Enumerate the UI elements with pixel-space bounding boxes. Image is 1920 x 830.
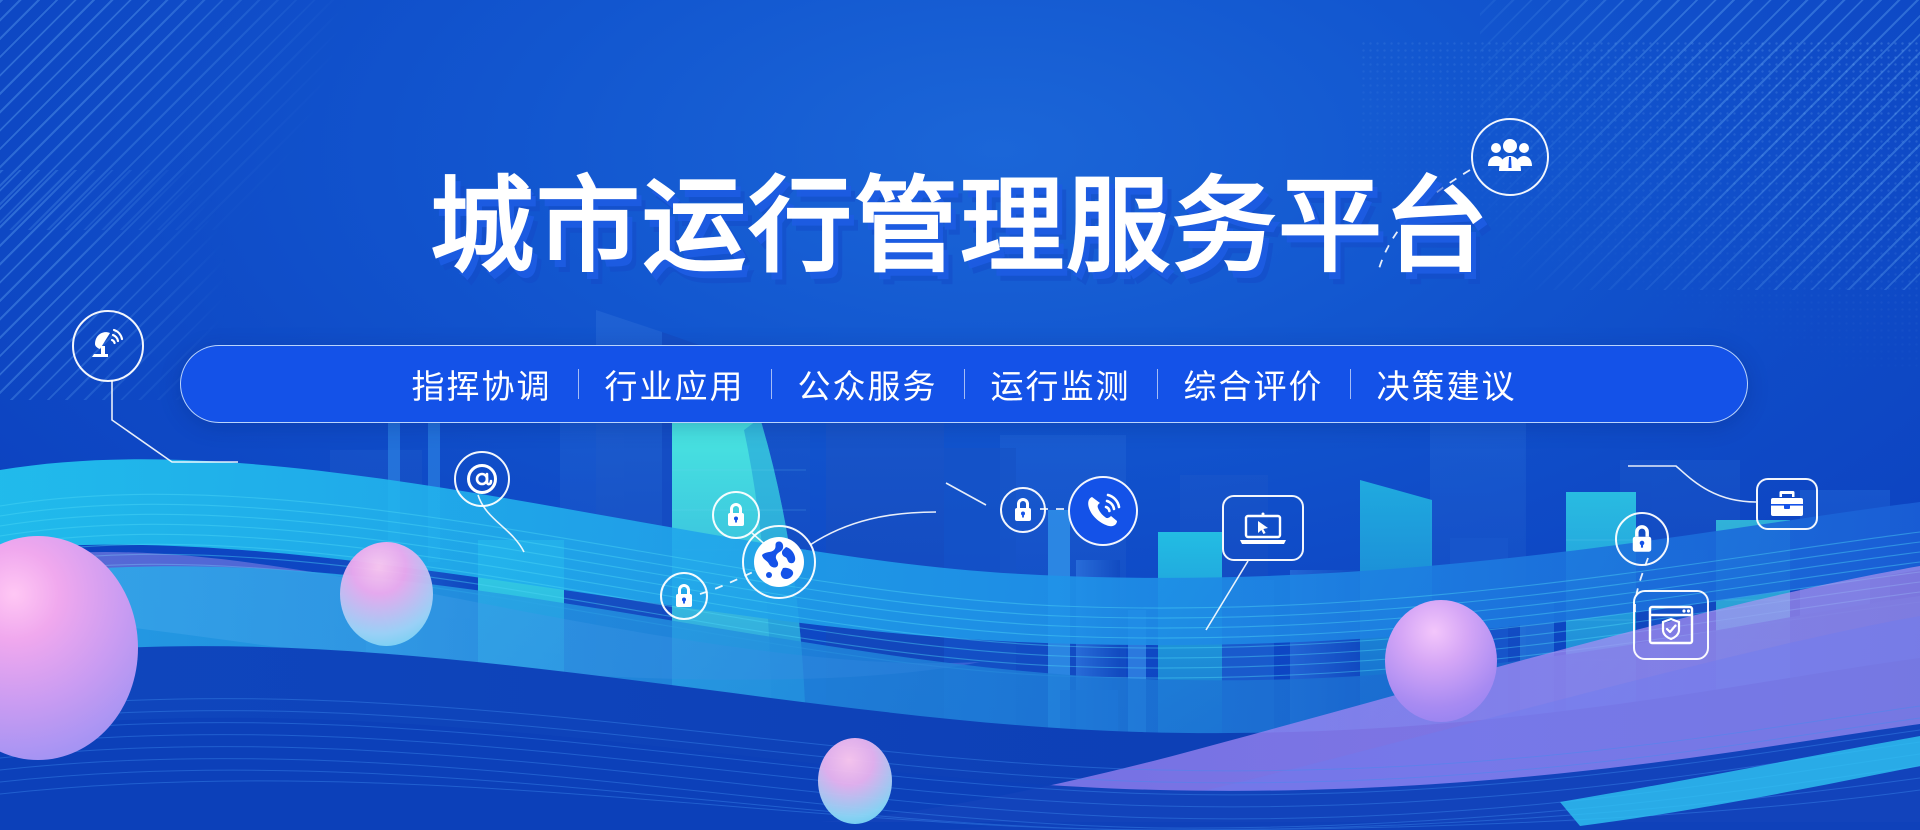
nav-item-3[interactable]: 运行监测 — [965, 360, 1157, 408]
nav-item-5[interactable]: 决策建议 — [1351, 360, 1543, 408]
city-operation-banner: 城市运行管理服务平台 指挥协调 行业应用 公众服务 运行监测 综合评价 决策建议 — [0, 0, 1920, 830]
briefcase-icon[interactable] — [1756, 478, 1818, 530]
nav-item-4[interactable]: 综合评价 — [1158, 360, 1350, 408]
globe-icon[interactable] — [742, 525, 816, 599]
nav-item-1[interactable]: 行业应用 — [579, 360, 771, 408]
satellite-dish-icon[interactable] — [72, 310, 144, 382]
phone-call-icon[interactable] — [1068, 476, 1138, 546]
browser-shield-icon[interactable] — [1633, 590, 1709, 660]
lock-icon[interactable] — [1000, 487, 1046, 533]
main-nav-pill: 指挥协调 行业应用 公众服务 运行监测 综合评价 决策建议 — [180, 345, 1748, 423]
nav-item-0[interactable]: 指挥协调 — [386, 360, 578, 408]
lock-icon[interactable] — [1615, 512, 1669, 566]
lock-icon[interactable] — [660, 572, 708, 620]
at-sign-icon[interactable] — [454, 451, 510, 507]
flowing-wave-ribbons — [0, 410, 1920, 830]
laptop-cursor-icon[interactable] — [1222, 495, 1304, 561]
nav-item-2[interactable]: 公众服务 — [772, 360, 964, 408]
page-title: 城市运行管理服务平台 — [0, 168, 1920, 284]
lock-icon[interactable] — [712, 491, 760, 539]
